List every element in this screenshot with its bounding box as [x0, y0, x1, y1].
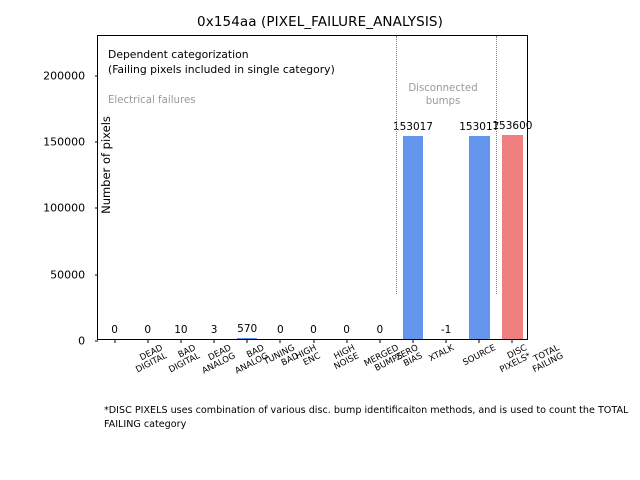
- x-tick-mark: [479, 339, 480, 343]
- bar-value-label: 0: [144, 324, 151, 336]
- annotation-electrical-failures: Electrical failures: [108, 95, 196, 106]
- bar-value-label: 0: [310, 324, 317, 336]
- x-tick-label: DEAD DIGITAL: [130, 344, 168, 376]
- plot-area: Number of pixels 05000010000015000020000…: [97, 35, 528, 340]
- x-tick-label: TOTAL FAILING: [528, 344, 566, 376]
- bar-value-label: 570: [237, 323, 257, 335]
- y-tick-label: 0: [78, 335, 85, 348]
- x-tick-label: HIGH ENC: [295, 344, 323, 371]
- x-tick-label: TUNING BAD: [263, 344, 301, 376]
- x-tick-mark: [180, 339, 181, 343]
- divider-disc-total: [496, 36, 497, 294]
- bar-value-label: 10: [174, 324, 187, 336]
- x-tick-mark: [346, 339, 347, 343]
- x-tick-mark: [247, 339, 248, 343]
- chart-title: 0x154aa (PIXEL_FAILURE_ANALYSIS): [0, 14, 640, 30]
- x-tick-mark: [114, 339, 115, 343]
- bar-xtalk: [403, 136, 424, 339]
- bar-value-label: 153600: [492, 120, 532, 132]
- bar-value-label: 3: [211, 324, 218, 336]
- y-tick-label: 150000: [43, 136, 85, 149]
- x-tick-mark: [379, 339, 380, 343]
- bar-value-label: 153017: [393, 121, 433, 133]
- x-tick-mark: [214, 339, 215, 343]
- y-tick-mark: [95, 274, 99, 275]
- y-tick-mark: [95, 75, 99, 76]
- bar-value-label: -1: [441, 324, 451, 336]
- chart-figure: 0x154aa (PIXEL_FAILURE_ANALYSIS) Number …: [0, 0, 640, 480]
- x-tick-mark: [280, 339, 281, 343]
- y-tick-mark: [95, 142, 99, 143]
- annotation-disconnected-bumps: Disconnected bumps: [398, 83, 488, 109]
- x-tick-mark: [512, 339, 513, 343]
- x-tick-label: HIGH NOISE: [328, 344, 360, 373]
- bar-disc-pixels: [469, 136, 490, 339]
- x-tick-mark: [147, 339, 148, 343]
- y-tick-label: 50000: [50, 268, 85, 281]
- bar-value-label: 0: [376, 324, 383, 336]
- x-tick-mark: [446, 339, 447, 343]
- divider-electrical-disconnected: [396, 36, 397, 294]
- y-tick-label: 200000: [43, 69, 85, 82]
- x-tick-label: SOURCE: [462, 344, 498, 368]
- x-tick-mark: [412, 339, 413, 343]
- annotation-dependent-categorization: Dependent categorization (Failing pixels…: [108, 48, 335, 77]
- bar-value-label: 0: [111, 324, 118, 336]
- y-tick-label: 100000: [43, 202, 85, 215]
- y-tick-mark: [95, 341, 99, 342]
- chart-footnote: *DISC PIXELS uses combination of various…: [104, 404, 634, 432]
- bar-value-label: 0: [343, 324, 350, 336]
- bar-tuning-bad: [237, 338, 258, 339]
- y-axis-label: Number of pixels: [99, 85, 113, 245]
- y-tick-mark: [95, 208, 99, 209]
- bar-total-failing: [502, 135, 523, 339]
- x-tick-label: XTALK: [428, 344, 456, 364]
- bar-value-label: 0: [277, 324, 284, 336]
